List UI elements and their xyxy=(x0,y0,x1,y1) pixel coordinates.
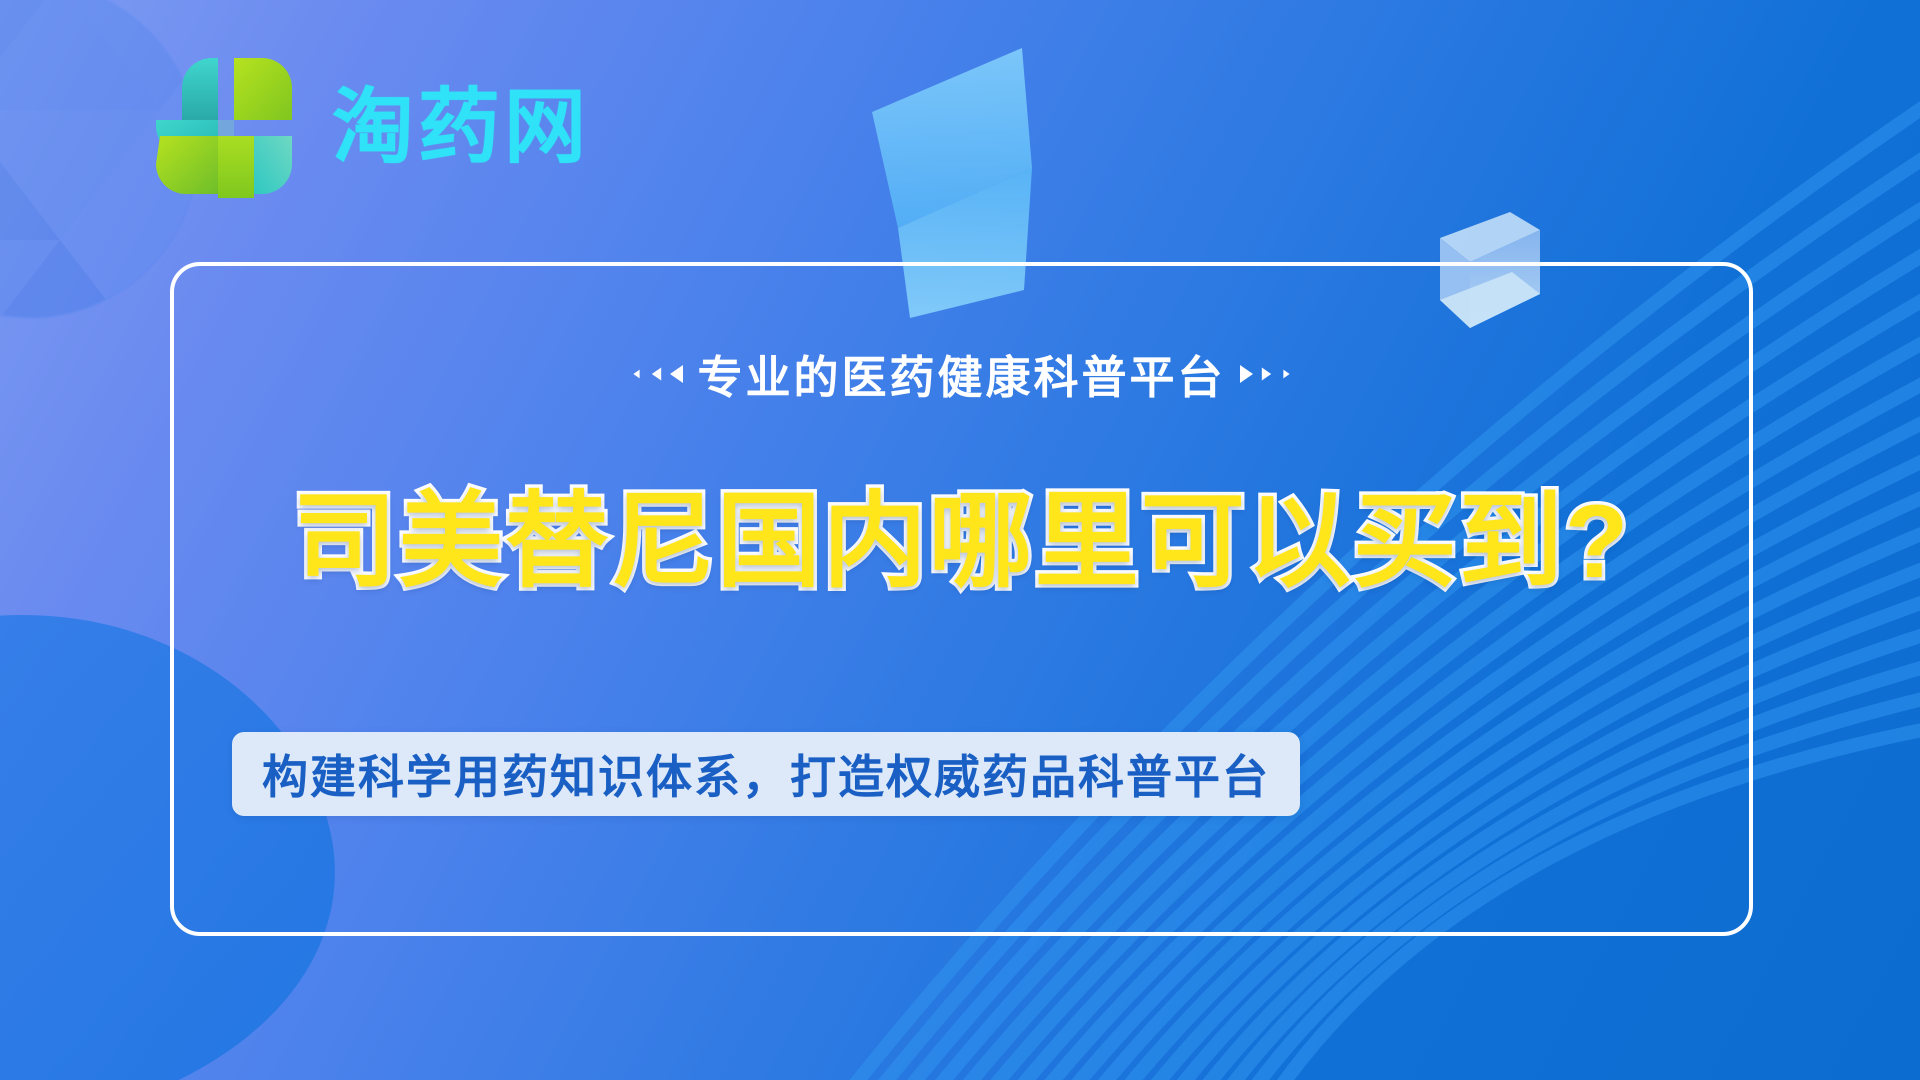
page-title: 司美替尼国内哪里可以买到? xyxy=(174,456,1749,607)
pinwheel-cross-logo-icon xyxy=(150,52,302,204)
triangle-right-icon xyxy=(1261,367,1270,380)
tagline-text: 专业的医药健康科普平台 xyxy=(697,341,1225,406)
triangle-right-icon xyxy=(1240,365,1253,383)
triangle-left-icon xyxy=(670,365,683,383)
tagline-arrows-right xyxy=(1240,365,1293,383)
tagline-row: 专业的医药健康科普平台 xyxy=(174,341,1749,406)
footer-banner-strip: 构建科学用药知识体系，打造权威药品科普平台 xyxy=(232,732,1300,816)
brand-logo-block[interactable]: 淘药网 xyxy=(150,52,590,204)
triangle-right-icon xyxy=(1283,369,1289,378)
banner-canvas: 淘药网 专业的医药健康科普平台 司美替尼国内哪里可以买到? 构建科学用药知识体系… xyxy=(0,0,1920,1080)
tagline-arrows-left xyxy=(630,365,683,383)
content-frame: 专业的医药健康科普平台 司美替尼国内哪里可以买到? 构建科学用药知识体系，打造权… xyxy=(170,262,1753,936)
triangle-left-icon xyxy=(652,367,661,380)
triangle-left-icon xyxy=(634,369,640,378)
footer-banner-text: 构建科学用药知识体系，打造权威药品科普平台 xyxy=(262,741,1270,807)
brand-name: 淘药网 xyxy=(332,87,590,169)
